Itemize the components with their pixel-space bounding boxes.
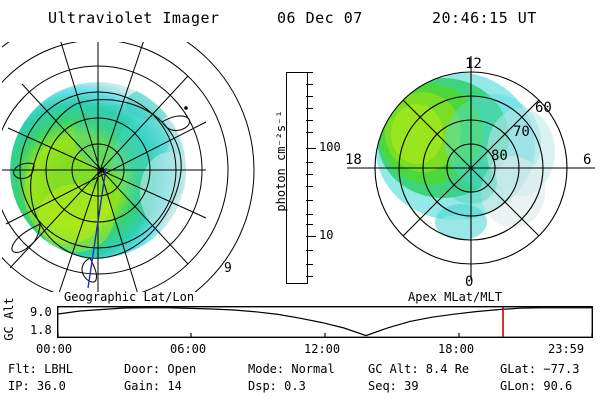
status-gain: Gain: 14	[124, 379, 182, 393]
mlt-label-0: 0	[465, 274, 473, 290]
magnetic-plot-canvas: 12 18 6 0 60 70 80	[343, 42, 598, 292]
graticule-edge-label: 9	[224, 261, 232, 276]
status-door-state: Door: Open	[124, 362, 196, 376]
status-glat: GLat: −77.3	[500, 362, 579, 376]
time-tick-0600: 06:00	[170, 342, 206, 356]
geographic-polar-plot[interactable]: 9	[2, 42, 257, 292]
subsatellite-point	[99, 167, 104, 172]
observation-date: 06 Dec 07	[277, 9, 363, 27]
orbit-trace-canvas	[57, 306, 593, 338]
colorbar-gradient	[286, 72, 308, 284]
status-row-1: Flt: LBHL Door: Open Mode: Normal GC Alt…	[0, 362, 600, 379]
time-tick-1800: 18:00	[438, 342, 474, 356]
uvi-display: Ultraviolet Imager 06 Dec 07 20:46:15 UT	[0, 0, 600, 400]
status-glon: GLon: 90.6	[500, 379, 572, 393]
status-block: Flt: LBHL Door: Open Mode: Normal GC Alt…	[0, 362, 600, 400]
status-flight-mode: Flt: LBHL	[8, 362, 73, 376]
time-tick-0000: 00:00	[36, 342, 72, 356]
orbit-ytick-min: 1.8	[30, 323, 52, 337]
mlt-label-6: 6	[583, 152, 591, 168]
colorbar-legend: photon cm⁻²s⁻¹ 100 10	[258, 58, 342, 294]
time-tick-1200: 12:00	[304, 342, 340, 356]
mlat-label-60: 60	[535, 100, 552, 116]
mlat-label-70: 70	[513, 124, 530, 140]
geographic-pole-marker	[184, 106, 188, 110]
colorbar-tick-100: 100	[319, 141, 341, 153]
status-row-2: IP: 36.0 Gain: 14 Dsp: 0.3 Seq: 39 GLon:…	[0, 379, 600, 396]
mlt-label-18: 18	[345, 152, 362, 168]
mlat-label-80: 80	[491, 148, 508, 164]
status-seq: Seq: 39	[368, 379, 419, 393]
colorbar-tick-10: 10	[319, 229, 333, 241]
header-bar: Ultraviolet Imager 06 Dec 07 20:46:15 UT	[0, 6, 600, 32]
mlt-label-12: 12	[465, 56, 482, 72]
mlt-spokes	[347, 56, 595, 280]
orbit-ytick-max: 9.0	[30, 305, 52, 319]
status-ip: IP: 36.0	[8, 379, 66, 393]
status-gc-altitude: GC Alt: 8.4 Re	[368, 362, 469, 376]
auroral-oval-overlay	[375, 72, 555, 240]
instrument-title: Ultraviolet Imager	[48, 9, 220, 27]
orbit-y-axis-label: GC Alt	[2, 296, 16, 342]
orbit-altitude-chart[interactable]: GC Alt 9.0 1.8 00:00 06:00 12:00 18:00 2…	[0, 296, 600, 356]
magnetic-polar-plot[interactable]: 12 18 6 0 60 70 80	[343, 42, 598, 292]
status-mode: Mode: Normal	[248, 362, 335, 376]
geographic-plot-canvas: 9	[2, 42, 257, 292]
observation-time: 20:46:15 UT	[432, 9, 537, 27]
time-tick-2359: 23:59	[548, 342, 584, 356]
status-dsp: Dsp: 0.3	[248, 379, 306, 393]
